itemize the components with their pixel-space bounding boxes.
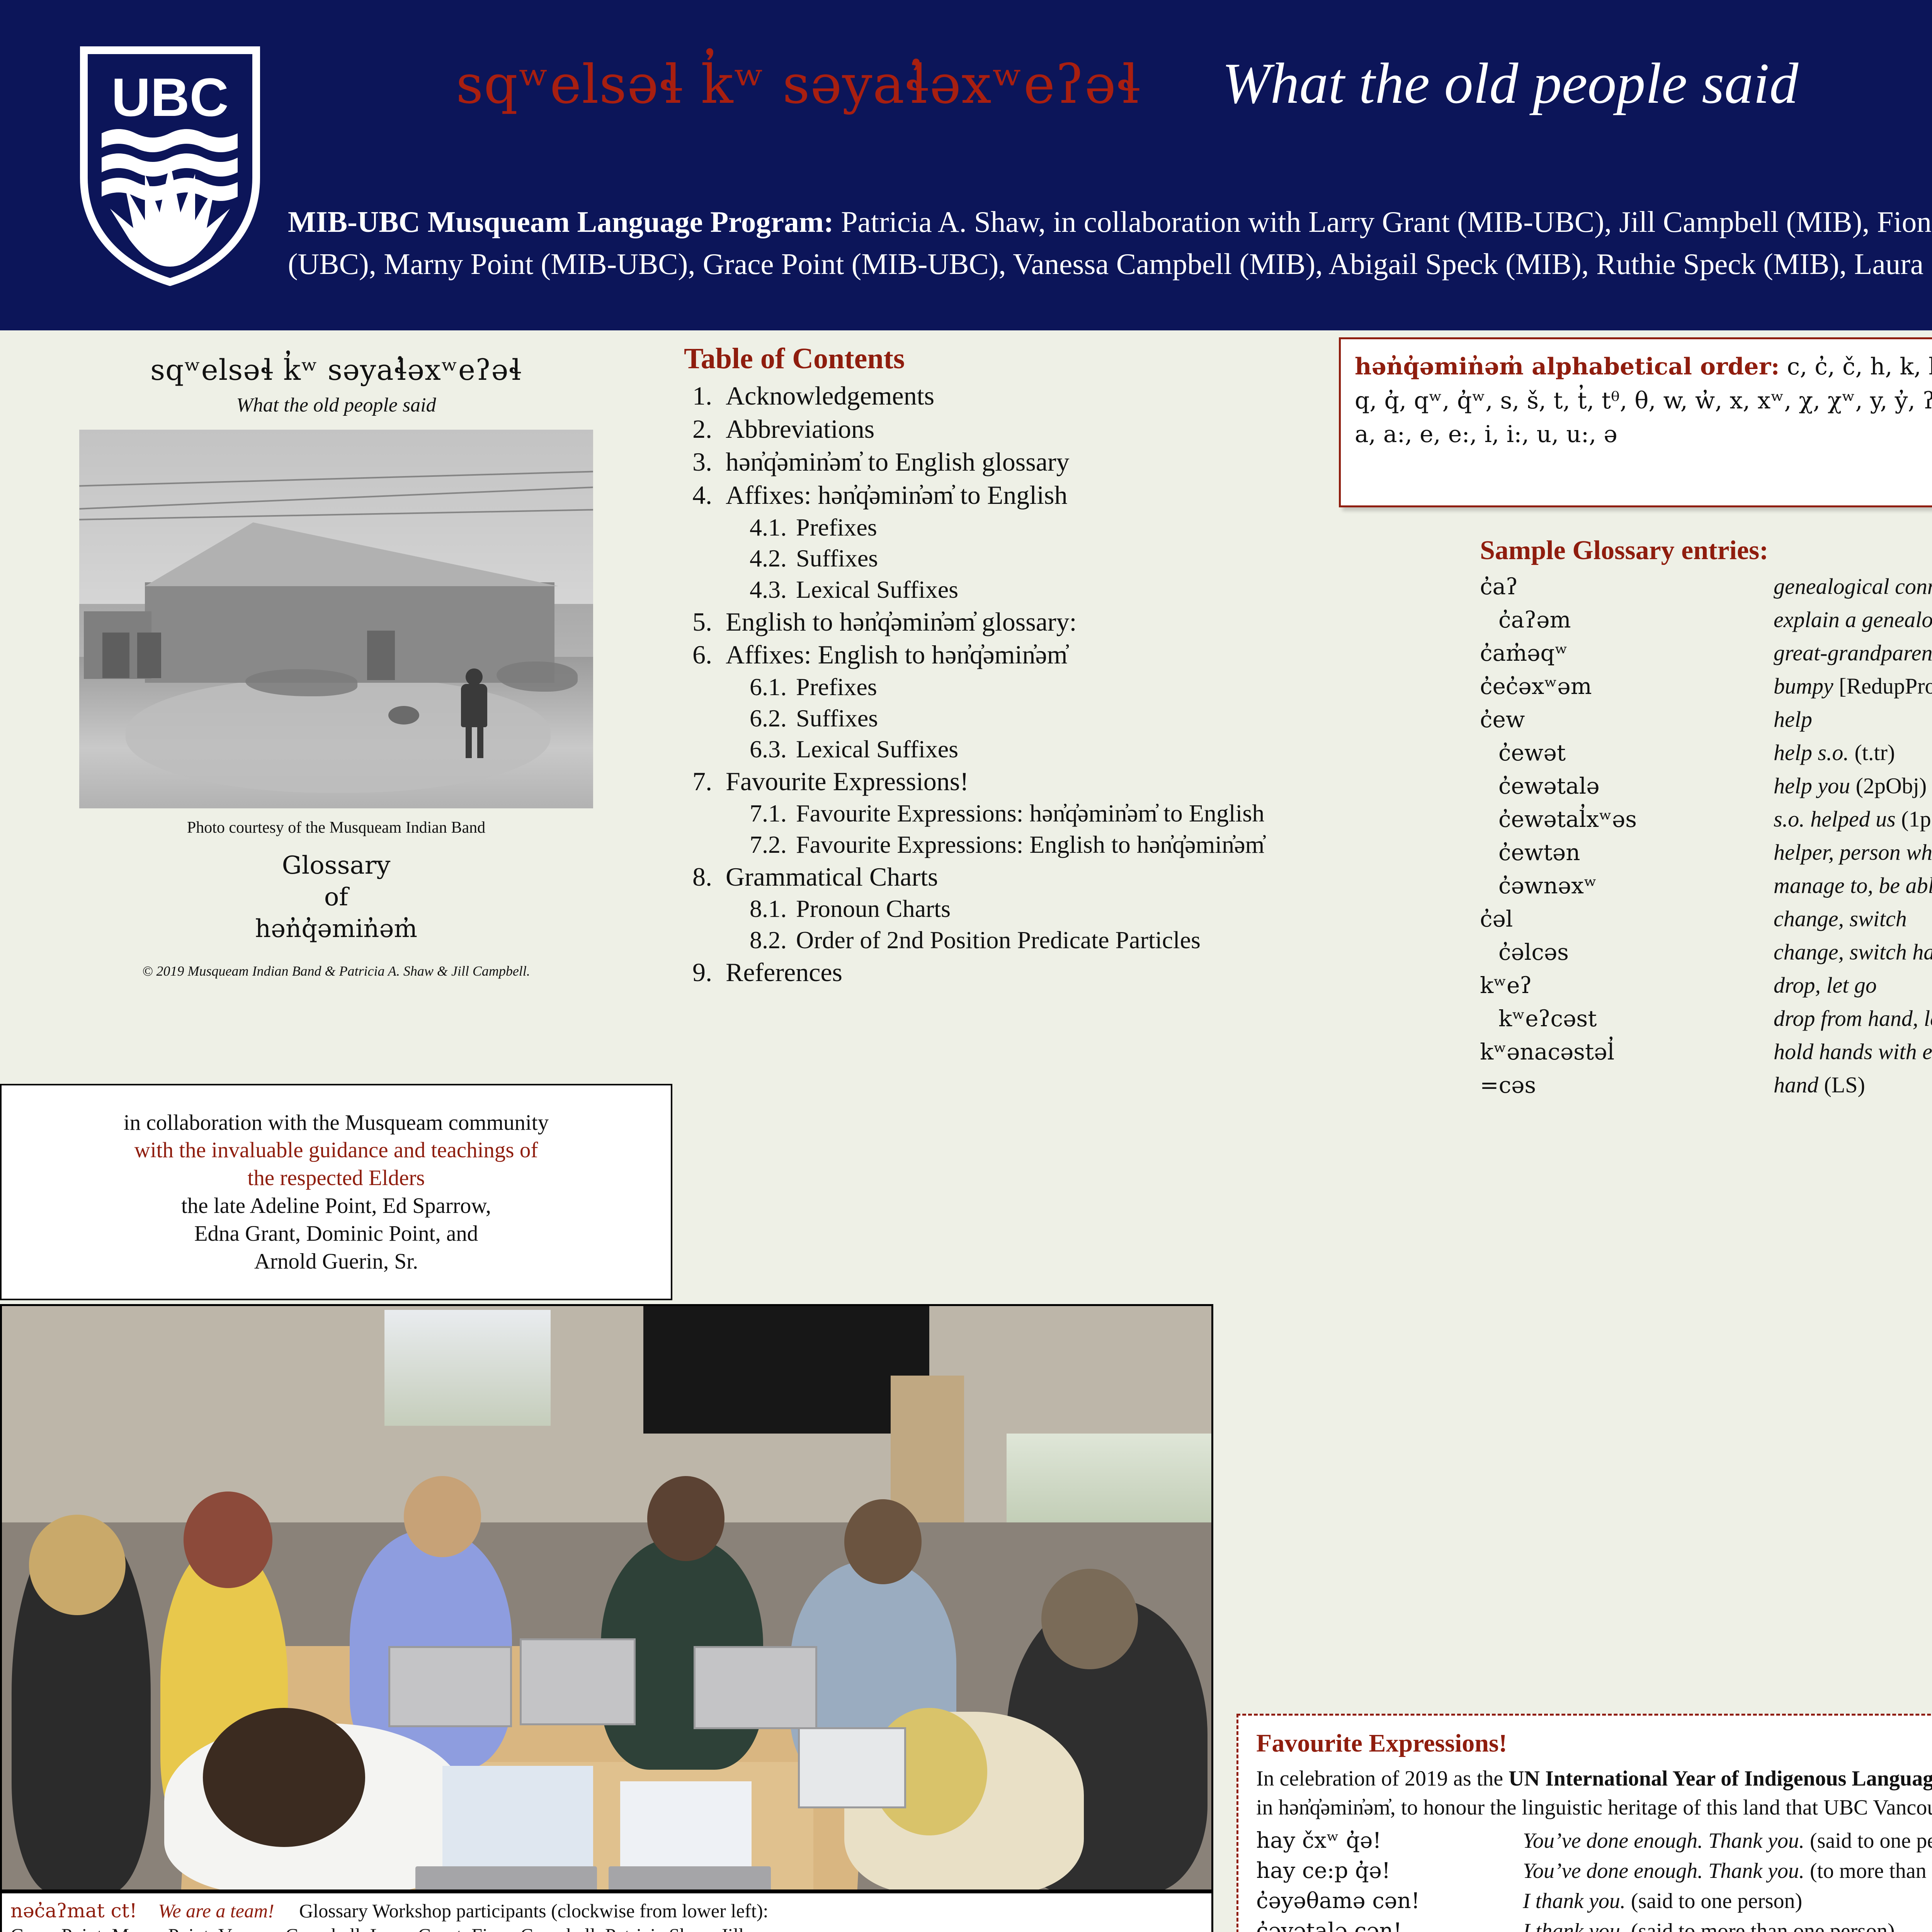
glossary-gloss-tag: (t.tr): [1854, 740, 1895, 765]
glossary-definition: helper, person who assists with the labo…: [1774, 841, 1932, 864]
toc-item-label: Acknowledgements: [726, 379, 934, 413]
glossary-term: kʷeʔ: [1480, 974, 1774, 997]
program-label: MIB-UBC Musqueam Language Program:: [288, 205, 833, 238]
glossary-term: c̓am̓əqʷ: [1480, 642, 1774, 664]
authors-line-1: Patricia A. Shaw, in collaboration with …: [833, 205, 1932, 238]
fav-intro-a: In celebration of 2019 as the: [1256, 1767, 1509, 1791]
toc-item-label: Favourite Expressions!: [726, 765, 969, 798]
toc-item[interactable]: 6.3.Lexical Suffixes: [684, 734, 1325, 765]
glossary-rows: c̓aʔgenealogical connectionc̓aʔəmexplain…: [1480, 575, 1932, 1096]
toc-item-label: Pronoun Charts: [796, 893, 951, 925]
toc-item[interactable]: 2.Abbreviations: [684, 413, 1325, 446]
glossary-entry: kʷənacəstəl̓hold hands with each other, …: [1480, 1041, 1932, 1063]
toc-item[interactable]: 3.hən̓q̓əmin̓əm̓ to English glossary: [684, 446, 1325, 479]
glossary-entry: kʷeʔdrop, let go: [1480, 974, 1932, 997]
glossary-definition: drop from hand, let go with one’s hand, …: [1774, 1007, 1932, 1030]
favourite-expression-term: c̓əyəθamə cən!: [1256, 1890, 1523, 1912]
glossary-definition: change, switch: [1774, 908, 1907, 930]
glossary-entry: c̓ewətal̓xʷəss.o. helped us (1pObj) (t.t…: [1480, 808, 1932, 830]
glossary-term: =cəs: [1480, 1074, 1774, 1096]
favourite-expression-translation: I thank you. (said to one person): [1523, 1890, 1802, 1912]
toc-item[interactable]: 6.2.Suffixes: [684, 703, 1325, 734]
glossary-cover-card: sqʷelsəɬ k̓ʷ səyaɬ̓əxʷeʔəɬ What the old …: [0, 330, 672, 1082]
alphabet-text: hən̓q̓əmin̓əm̓ alphabetical order: c, c̓…: [1355, 350, 1932, 452]
glossary-definition: hold hands with each other, cf. =cəs (LS…: [1774, 1041, 1932, 1063]
favourite-expression-translation: I thank you. (said to more than one pers…: [1523, 1920, 1895, 1932]
alphabet-label: hən̓q̓əmin̓əm̓ alphabetical order:: [1355, 353, 1779, 380]
glossary-definition: great-grandparent, great-grandchild (ter…: [1774, 642, 1932, 664]
glossary-definition: change, switch hands (when paddling or p…: [1774, 941, 1932, 963]
toc-item-label: Prefixes: [796, 672, 877, 703]
toc-item[interactable]: 6.Affixes: English to hən̓q̓əmin̓əm̓: [684, 638, 1325, 672]
collab-line-3: the respected Elders: [12, 1164, 660, 1192]
toc-item-label: Favourite Expressions: hən̓q̓əmin̓əm̓ to…: [796, 798, 1264, 829]
favourite-expression-note: (said to more than one person): [1631, 1919, 1895, 1932]
toc-item-number: 6.2.: [750, 703, 796, 734]
glossary-entry: c̓ewətaləhelp you (2pObj) (t.tr): [1480, 775, 1932, 797]
toc-title: Table of Contents: [684, 342, 1325, 376]
glossary-entry: c̓aʔgenealogical connection: [1480, 575, 1932, 598]
toc-item-number: 4.2.: [750, 543, 796, 574]
favourite-expression-term: c̓əyətalə cən!: [1256, 1920, 1523, 1932]
glossary-definition: explain a genealogical connection (intr): [1774, 609, 1932, 631]
glossary-gloss-tag: (LS): [1824, 1072, 1865, 1097]
toc-item-label: Affixes: English to hən̓q̓əmin̓əm̓: [726, 638, 1068, 672]
sample-glossary-section: Sample Glossary entries: c̓aʔgenealogica…: [1480, 535, 1932, 1107]
toc-item[interactable]: 8.1.Pronoun Charts: [684, 893, 1325, 925]
collab-line-6: Arnold Guerin, Sr.: [12, 1248, 660, 1276]
glossary-entry: c̓ec̓əxʷəmbumpy [RedupProg-Root-intr]: [1480, 675, 1932, 697]
toc-item-label: References: [726, 956, 842, 989]
toc-item[interactable]: 4.Affixes: hən̓q̓əmin̓əm̓ to English: [684, 479, 1325, 512]
glossary-gloss-tag: (1pObj) (t.tr): [1901, 806, 1932, 832]
workshop-photo-caption: nəc̓aʔmat ct! We are a team! Glossary Wo…: [0, 1891, 1213, 1932]
poster-title-hq: sqʷelsəɬ k̓ʷ səyaɬ̓əxʷeʔəɬ: [456, 53, 1141, 116]
collab-line-1: in collaboration with the Musqueam commu…: [12, 1109, 660, 1137]
favourite-expressions-box: Favourite Expressions! In celebration of…: [1236, 1714, 1932, 1932]
cover-copyright: © 2019 Musqueam Indian Band & Patricia A…: [0, 963, 672, 979]
glossary-term: c̓ew: [1480, 708, 1774, 731]
toc-item-number: 6.: [692, 638, 726, 672]
glossary-term: c̓ewtən: [1480, 841, 1774, 864]
favourite-expression-row: hay čxʷ q̓ə!You’ve done enough. Thank yo…: [1256, 1830, 1932, 1852]
favourite-expression-note: (to more than one): [1810, 1859, 1932, 1883]
toc-item[interactable]: 1.Acknowledgements: [684, 379, 1325, 413]
cover-photo-credit: Photo courtesy of the Musqueam Indian Ba…: [0, 818, 672, 837]
glossary-entry: c̓ewəthelp s.o. (t.tr): [1480, 742, 1932, 764]
toc-item-label: Suffixes: [796, 703, 878, 734]
toc-item[interactable]: 6.1.Prefixes: [684, 672, 1325, 703]
toc-item-label: Prefixes: [796, 512, 877, 543]
cover-title-en: What the old people said: [0, 394, 672, 417]
toc-item[interactable]: 7.2.Favourite Expressions: English to hə…: [684, 829, 1325, 861]
favourite-expression-row: c̓əyətalə cən!I thank you. (said to more…: [1256, 1920, 1932, 1932]
favourite-expression-translation: You’ve done enough. Thank you. (said to …: [1523, 1830, 1932, 1852]
toc-item[interactable]: 4.2.Suffixes: [684, 543, 1325, 574]
glossary-term: kʷənacəstəl̓: [1480, 1041, 1774, 1063]
glossary-term: c̓aʔəm: [1480, 609, 1774, 631]
toc-item-label: Affixes: hən̓q̓əmin̓əm̓ to English: [726, 479, 1068, 512]
toc-item[interactable]: 9.References: [684, 956, 1325, 989]
toc-item-number: 7.1.: [750, 798, 796, 829]
glossary-term: c̓ec̓əxʷəm: [1480, 675, 1774, 697]
alphabet-line-2: q, q̓, qʷ, q̓ʷ, s, š, t, t̓, tᶿ, θ, w, w…: [1355, 387, 1932, 414]
favourite-expression-row: c̓əyəθamə cən!I thank you. (said to one …: [1256, 1890, 1932, 1912]
collaboration-box: in collaboration with the Musqueam commu…: [0, 1084, 672, 1300]
caption-names-line-1: Grace Point, Marny Point, Vanessa Campbe…: [10, 1922, 1203, 1932]
glossary-entry: kʷeʔcəstdrop from hand, let go with one’…: [1480, 1007, 1932, 1030]
toc-item-number: 2.: [692, 413, 726, 446]
toc-item-number: 9.: [692, 956, 726, 989]
toc-item-number: 7.: [692, 765, 726, 798]
glossary-definition: help: [1774, 708, 1812, 731]
favourite-expressions-rows: hay čxʷ q̓ə!You’ve done enough. Thank yo…: [1256, 1830, 1932, 1932]
glossary-definition: drop, let go: [1774, 974, 1877, 997]
glossary-entry: c̓əwnəxʷmanage to, be able to help s.o. …: [1480, 874, 1932, 897]
favourite-expression-term: hay čxʷ q̓ə!: [1256, 1830, 1523, 1852]
table-of-contents: Table of Contents 1.Acknowledgements2.Ab…: [684, 342, 1325, 989]
toc-item-label: Grammatical Charts: [726, 861, 938, 894]
svg-text:UBC: UBC: [111, 67, 228, 128]
glossary-term: c̓ewət: [1480, 742, 1774, 764]
glossary-definition: bumpy [RedupProg-Root-intr]: [1774, 675, 1932, 697]
glossary-term: c̓ewətal̓xʷəs: [1480, 808, 1774, 830]
toc-item-number: 8.2.: [750, 925, 796, 956]
historic-longhouse-photo: [79, 430, 593, 808]
glossary-gloss-tag: [RedupProg-Root-intr]: [1839, 673, 1932, 699]
fav-intro-bold: UN International Year of Indigenous Lang…: [1509, 1767, 1932, 1791]
collab-line-2: with the invaluable guidance and teachin…: [12, 1136, 660, 1164]
collab-line-5: Edna Grant, Dominic Point, and: [12, 1220, 660, 1248]
favourite-expression-note: (said to one person): [1810, 1829, 1932, 1853]
toc-item-number: 3.: [692, 446, 726, 479]
favourite-expression-translation: You’ve done enough. Thank you. (to more …: [1523, 1860, 1932, 1882]
glossary-entry: c̓əlcəschange, switch hands (when paddli…: [1480, 941, 1932, 963]
toc-item-label: hən̓q̓əmin̓əm̓ to English glossary: [726, 446, 1070, 479]
glossary-entry: =cəshand (LS): [1480, 1074, 1932, 1096]
toc-list: 1.Acknowledgements2.Abbreviations3.hən̓q…: [684, 379, 1325, 989]
toc-item[interactable]: 4.1.Prefixes: [684, 512, 1325, 543]
alphabetical-order-box: hən̓q̓əmin̓əm̓ alphabetical order: c, c̓…: [1339, 337, 1932, 507]
favourite-expressions-intro: In celebration of 2019 as the UN Interna…: [1256, 1764, 1932, 1822]
toc-item[interactable]: 8.2.Order of 2nd Position Predicate Part…: [684, 925, 1325, 956]
favourite-expression-row: hay ce:p q̓ə!You’ve done enough. Thank y…: [1256, 1860, 1932, 1882]
poster-title-row: sqʷelsəɬ k̓ʷ səyaɬ̓əxʷeʔəɬ What the old …: [456, 50, 1932, 124]
toc-item[interactable]: 8.Grammatical Charts: [684, 861, 1325, 894]
toc-item-number: 5.: [692, 605, 726, 639]
glossary-entry: c̓ewhelp: [1480, 708, 1932, 731]
favourite-expressions-title: Favourite Expressions!: [1256, 1729, 1932, 1758]
toc-item-number: 6.3.: [750, 734, 796, 765]
caption-workshop-label: Glossary Workshop participants (clockwis…: [299, 1900, 768, 1922]
glossary-definition: help you (2pObj) (t.tr): [1774, 775, 1932, 797]
glossary-entry: c̓aʔəmexplain a genealogical connection …: [1480, 609, 1932, 631]
ubc-logo-icon: UBC: [79, 46, 261, 286]
toc-item-label: English to hən̓q̓əmin̓əm̓ glossary:: [726, 605, 1077, 639]
caption-hq: nəc̓aʔmat ct!: [10, 1900, 137, 1922]
toc-item-label: Abbreviations: [726, 413, 874, 446]
toc-item-number: 4.3.: [750, 574, 796, 605]
toc-item-number: 8.1.: [750, 893, 796, 925]
glossary-definition: genealogical connection: [1774, 575, 1932, 598]
authors-block: MIB-UBC Musqueam Language Program: Patri…: [288, 201, 1932, 286]
toc-item-label: Suffixes: [796, 543, 878, 574]
authors-line-2: (UBC), Marny Point (MIB-UBC), Grace Poin…: [288, 247, 1932, 281]
toc-item-number: 1.: [692, 379, 726, 413]
toc-item[interactable]: 5.English to hən̓q̓əmin̓əm̓ glossary:: [684, 605, 1325, 639]
toc-item[interactable]: 7.1.Favourite Expressions: hən̓q̓əmin̓əm…: [684, 798, 1325, 829]
glossary-term: c̓ewətalə: [1480, 775, 1774, 797]
fav-intro-c: in hən̓q̓əmin̓əm̓, to honour the linguis…: [1256, 1796, 1932, 1820]
glossary-term: c̓əwnəxʷ: [1480, 874, 1774, 897]
favourite-expression-term: hay ce:p q̓ə!: [1256, 1860, 1523, 1882]
cover-glossary-block: Glossary of hən̓q̓əmin̓əm̓: [0, 850, 672, 945]
toc-item-number: 8.: [692, 861, 726, 894]
cover-glossary-line2: of: [0, 882, 672, 913]
collab-line-4: the late Adeline Point, Ed Sparrow,: [12, 1192, 660, 1220]
glossary-term: c̓əlcəs: [1480, 941, 1774, 963]
toc-item-label: Lexical Suffixes: [796, 734, 958, 765]
glossary-definition: hand (LS): [1774, 1074, 1865, 1096]
toc-item[interactable]: 4.3.Lexical Suffixes: [684, 574, 1325, 605]
toc-item-number: 4.: [692, 479, 726, 512]
glossary-definition: s.o. helped us (1pObj) (t.tr): [1774, 808, 1932, 830]
glossary-definition: manage to, be able to help s.o. (n.tr) (…: [1774, 874, 1932, 897]
alphabet-line-1: c, c̓, č, h, k, kʷ, k̓ʷ, l, l̓, ƛ̓, ɬ, m…: [1779, 353, 1932, 380]
alphabet-line-3: a, a:, e, e:, i, i:, u, u:, ə: [1355, 421, 1617, 448]
glossary-gloss-tag: (2pObj) (t.tr): [1856, 773, 1932, 798]
toc-item-label: Order of 2nd Position Predicate Particle…: [796, 925, 1201, 956]
glossary-term: c̓aʔ: [1480, 575, 1774, 598]
glossary-workshop-photo: [0, 1304, 1213, 1891]
poster-title-en: What the old people said: [1222, 50, 1798, 117]
glossary-entry: c̓ewtənhelper, person who assists with t…: [1480, 841, 1932, 864]
glossary-title: Sample Glossary entries:: [1480, 535, 1932, 566]
cover-glossary-line3: hən̓q̓əmin̓əm̓: [0, 913, 672, 945]
toc-item-label: Favourite Expressions: English to hən̓q̓…: [796, 829, 1264, 861]
glossary-entry: c̓əlchange, switch: [1480, 908, 1932, 930]
glossary-term: c̓əl: [1480, 908, 1774, 930]
cover-glossary-line1: Glossary: [0, 850, 672, 882]
glossary-term: kʷeʔcəst: [1480, 1007, 1774, 1030]
caption-headline: nəc̓aʔmat ct! We are a team! Glossary Wo…: [10, 1900, 1203, 1922]
poster-body: sqʷelsəɬ k̓ʷ səyaɬ̓əxʷeʔəɬ What the old …: [0, 330, 1932, 1932]
toc-item-label: Lexical Suffixes: [796, 574, 958, 605]
poster-header: UBC sqʷelsəɬ k̓ʷ səyaɬ̓əxʷeʔəɬ What the …: [0, 0, 1932, 330]
toc-item[interactable]: 7.Favourite Expressions!: [684, 765, 1325, 798]
toc-item-number: 7.2.: [750, 829, 796, 861]
toc-item-number: 6.1.: [750, 672, 796, 703]
cover-title-hq: sqʷelsəɬ k̓ʷ səyaɬ̓əxʷeʔəɬ: [0, 354, 672, 387]
glossary-entry: c̓am̓əqʷgreat-grandparent, great-grandch…: [1480, 642, 1932, 664]
favourite-expression-note: (said to one person): [1631, 1889, 1802, 1913]
glossary-definition: help s.o. (t.tr): [1774, 742, 1895, 764]
caption-we-are-a-team: We are a team!: [158, 1900, 274, 1922]
toc-item-number: 4.1.: [750, 512, 796, 543]
